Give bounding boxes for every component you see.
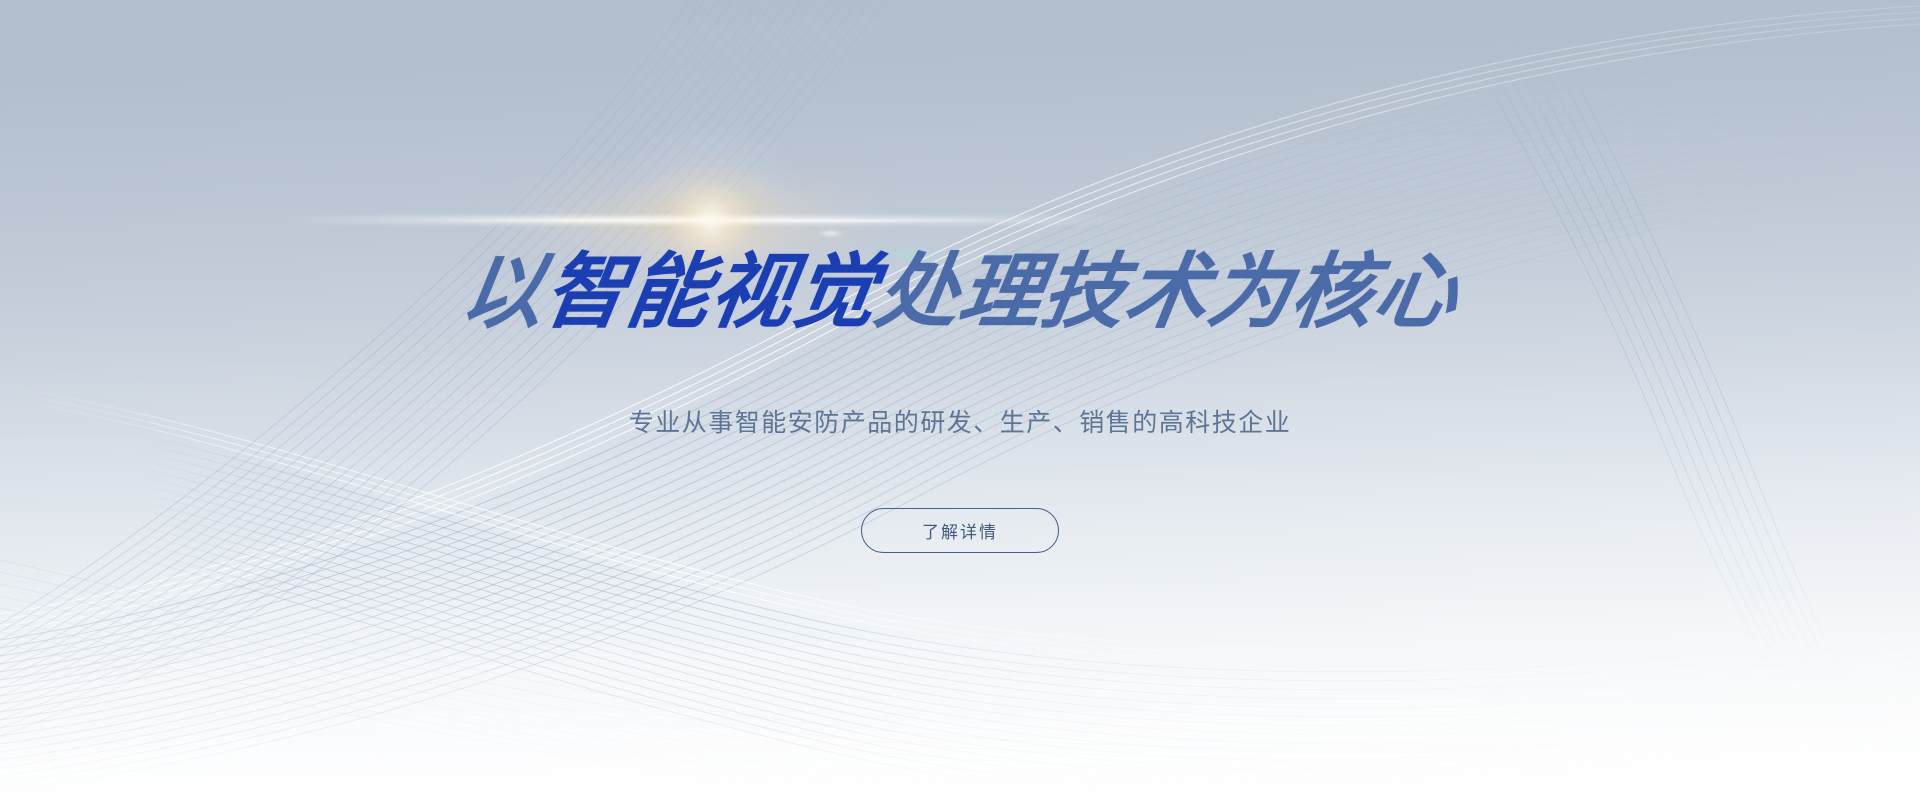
hero-subtitle: 专业从事智能安防产品的研发、生产、销售的高科技企业 bbox=[0, 406, 1920, 441]
hero-headline: 以智能视觉处理技术为核心 bbox=[0, 252, 1920, 334]
hero-banner: 以智能视觉处理技术为核心 专业从事智能安防产品的研发、生产、销售的高科技企业 了… bbox=[0, 0, 1920, 800]
headline-segment-1: 以 bbox=[456, 252, 552, 334]
headline-segment-2: 智能视觉 bbox=[539, 252, 884, 334]
headline-segment-3: 处理技术为核心 bbox=[871, 252, 1465, 334]
hero-content: 以智能视觉处理技术为核心 专业从事智能安防产品的研发、生产、销售的高科技企业 了… bbox=[0, 0, 1920, 800]
learn-more-button[interactable]: 了解详情 bbox=[861, 508, 1059, 553]
hero-cta-container: 了解详情 bbox=[0, 508, 1920, 553]
